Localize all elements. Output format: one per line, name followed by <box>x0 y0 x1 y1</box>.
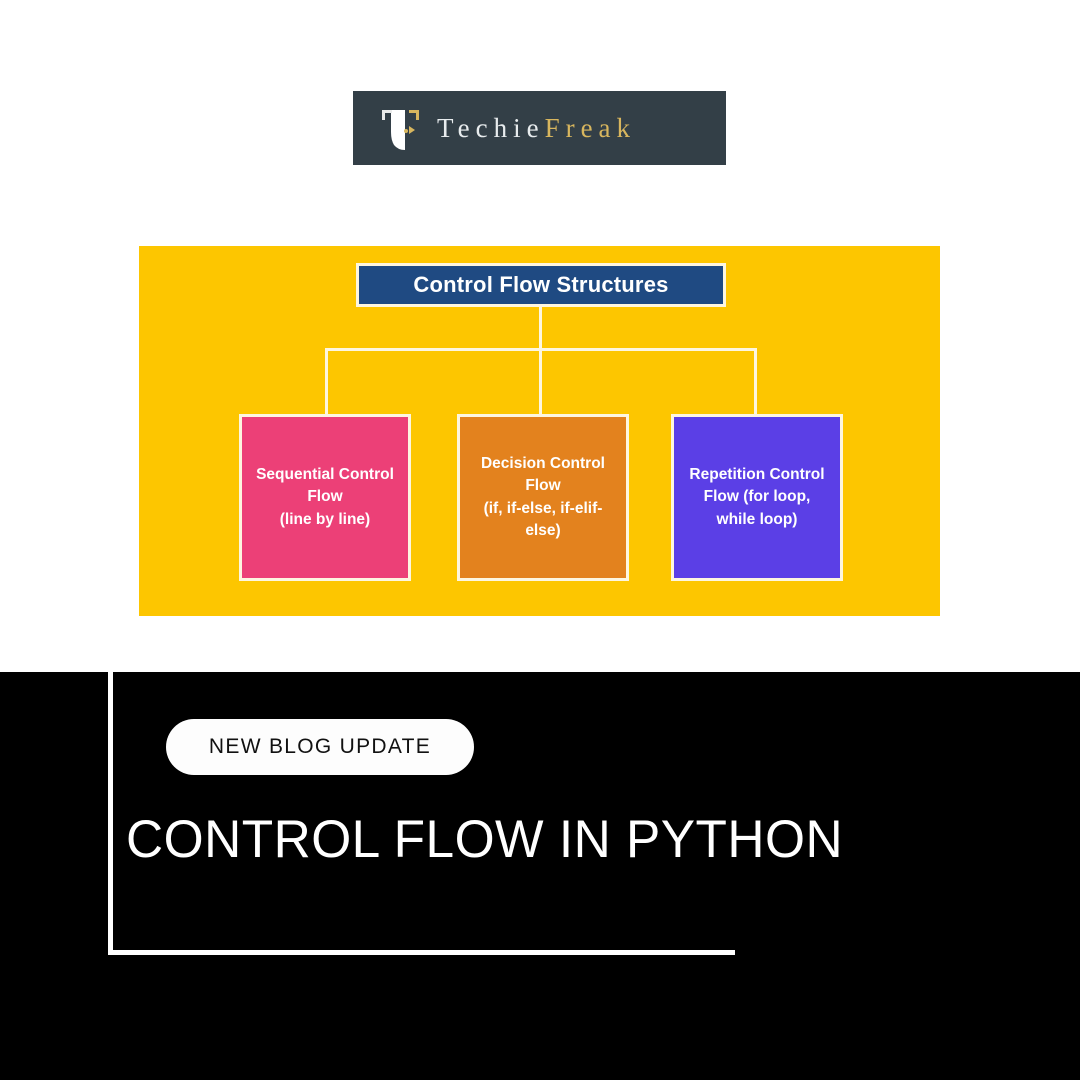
promo-band: NEW BLOG UPDATE CONTROL FLOW IN PYTHON <box>0 672 1080 1080</box>
new-blog-update-badge-label: NEW BLOG UPDATE <box>209 735 431 759</box>
diagram-node-repetition: Repetition Control Flow (for loop, while… <box>671 414 843 581</box>
stylized-t-logo-icon <box>373 100 429 156</box>
brand-wordmark-part-1: Techie <box>437 113 545 143</box>
diagram-node-sequential-label: Sequential Control Flow (line by line) <box>256 464 394 531</box>
top-white-area: TechieFreak Control Flow Structures Sequ… <box>0 0 1080 672</box>
connector-root-down <box>539 302 542 348</box>
brand-wordmark-part-2: Freak <box>545 113 636 143</box>
promo-headline: CONTROL FLOW IN PYTHON <box>126 813 843 866</box>
brand-logo[interactable]: TechieFreak <box>353 91 726 165</box>
control-flow-diagram: Control Flow Structures Sequential Contr… <box>139 246 940 616</box>
connector-branch-right <box>754 348 757 416</box>
promo-frame-horizontal-rule <box>108 950 735 955</box>
diagram-node-sequential: Sequential Control Flow (line by line) <box>239 414 411 581</box>
promo-frame-vertical-rule <box>108 672 113 955</box>
brand-wordmark: TechieFreak <box>437 115 636 142</box>
new-blog-update-badge[interactable]: NEW BLOG UPDATE <box>166 719 474 775</box>
diagram-node-root: Control Flow Structures <box>356 263 726 307</box>
diagram-node-root-label: Control Flow Structures <box>413 272 668 298</box>
connector-branch-left <box>325 348 328 416</box>
diagram-node-decision-label: Decision Control Flow (if, if-else, if-e… <box>481 453 605 543</box>
diagram-node-repetition-label: Repetition Control Flow (for loop, while… <box>689 464 824 531</box>
diagram-node-decision: Decision Control Flow (if, if-else, if-e… <box>457 414 629 581</box>
connector-branch-mid <box>539 348 542 416</box>
